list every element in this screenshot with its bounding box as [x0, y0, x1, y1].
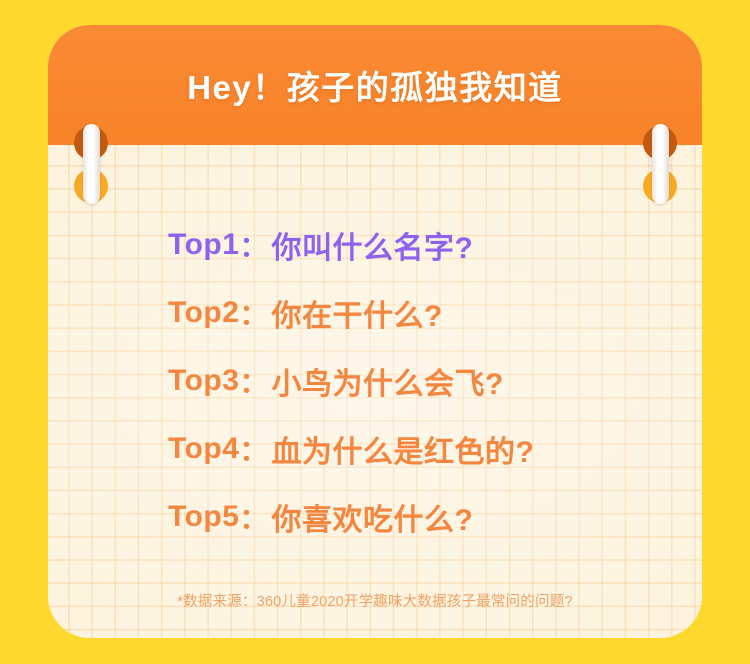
question-text: 你喜欢吃什么? — [271, 495, 473, 539]
rank-separator: ： — [239, 429, 267, 469]
list-item: Top5 ： 你喜欢吃什么? — [48, 483, 702, 551]
card-header: Hey！孩子的孤独我知道 — [48, 25, 702, 145]
page-title: Hey！孩子的孤独我知道 — [48, 25, 702, 145]
rank-separator: ： — [239, 361, 267, 401]
poster-canvas: Hey！孩子的孤独我知道 Top1 ： 你叫什么名字? Top2 ： 你在干什么… — [0, 0, 750, 664]
rank-label: Top3 — [168, 364, 239, 398]
ring-pill-icon — [83, 124, 100, 204]
list-item: Top3 ： 小鸟为什么会飞? — [48, 347, 702, 415]
rank-label: Top4 — [168, 432, 239, 466]
rank-separator: ： — [239, 293, 267, 333]
top-question-list: Top1 ： 你叫什么名字? Top2 ： 你在干什么? Top3 ： 小鸟为什… — [48, 211, 702, 551]
list-item: Top4 ： 血为什么是红色的? — [48, 415, 702, 483]
rank-label: Top1 — [168, 228, 239, 262]
question-text: 你在干什么? — [271, 291, 442, 335]
data-source-footnote: *数据来源：360儿童2020开学趣味大数据孩子最常问的问题? — [48, 590, 702, 611]
note-card: Hey！孩子的孤独我知道 Top1 ： 你叫什么名字? Top2 ： 你在干什么… — [48, 25, 702, 638]
rank-label: Top5 — [168, 500, 239, 534]
rank-separator: ： — [239, 497, 267, 537]
list-item: Top2 ： 你在干什么? — [48, 279, 702, 347]
question-text: 血为什么是红色的? — [271, 427, 534, 471]
binder-ring-left — [68, 123, 114, 209]
list-item: Top1 ： 你叫什么名字? — [48, 211, 702, 279]
rank-separator: ： — [239, 225, 267, 265]
question-text: 你叫什么名字? — [271, 223, 473, 267]
ring-pill-icon — [652, 124, 669, 204]
question-text: 小鸟为什么会飞? — [271, 359, 503, 403]
rank-label: Top2 — [168, 296, 239, 330]
binder-ring-right — [637, 123, 683, 209]
